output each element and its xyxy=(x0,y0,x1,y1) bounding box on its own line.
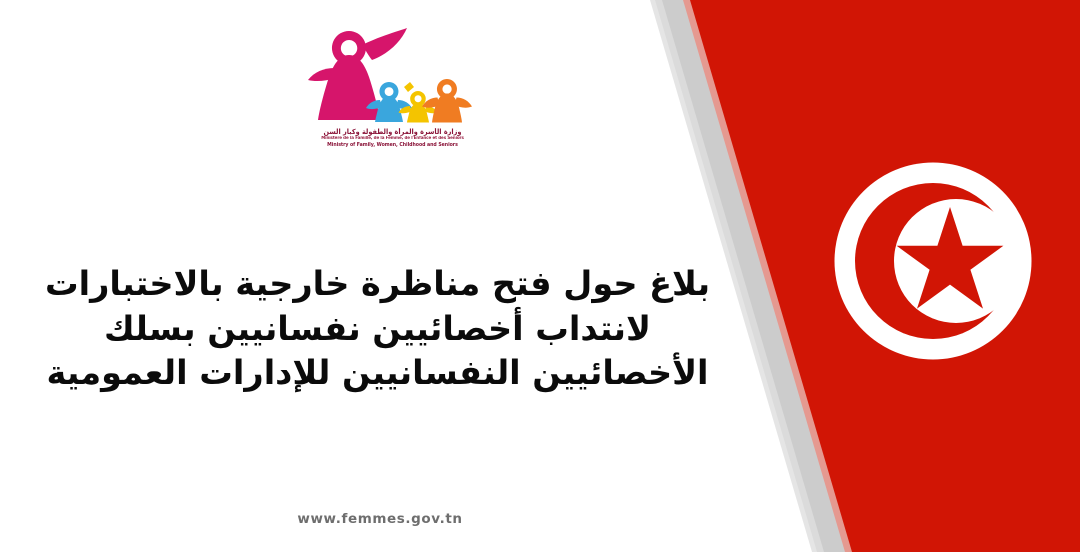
headline: بلاغ حول فتح مناظرة خارجية بالاختبارات ل… xyxy=(10,262,745,396)
logo-caption-block: وزارة الأسرة والمرأة والطفولة وكبار السن… xyxy=(300,128,485,148)
headline-line-1: بلاغ حول فتح مناظرة خارجية بالاختبارات xyxy=(10,262,745,307)
child-orange-icon xyxy=(422,79,472,123)
flag-red-field xyxy=(690,0,1080,552)
website-url[interactable]: www.femmes.gov.tn xyxy=(0,511,760,527)
headline-line-2: لانتداب أخصائيين نفسانيين بسلك xyxy=(10,307,745,352)
flag-star xyxy=(897,207,1004,309)
accent-shape-icon xyxy=(404,82,414,92)
logo-caption-arabic: وزارة الأسرة والمرأة والطفولة وكبار السن xyxy=(307,128,477,136)
announcement-banner: وزارة الأسرة والمرأة والطفولة وكبار السن… xyxy=(0,0,1080,552)
headline-line-3: الأخصائيين النفسانيين للإدارات العمومية xyxy=(10,351,745,396)
family-figures-icon xyxy=(300,24,485,127)
flag-white-disc xyxy=(835,163,1032,360)
flag-crescent-group xyxy=(855,183,1018,339)
crescent-outer-circle xyxy=(855,183,1011,339)
ministry-logo: وزارة الأسرة والمرأة والطفولة وكبار السن… xyxy=(300,24,485,159)
logo-caption-english: Ministry of Family, Women, Childhood and… xyxy=(307,142,477,148)
crescent-inner-cutout xyxy=(894,199,1018,323)
